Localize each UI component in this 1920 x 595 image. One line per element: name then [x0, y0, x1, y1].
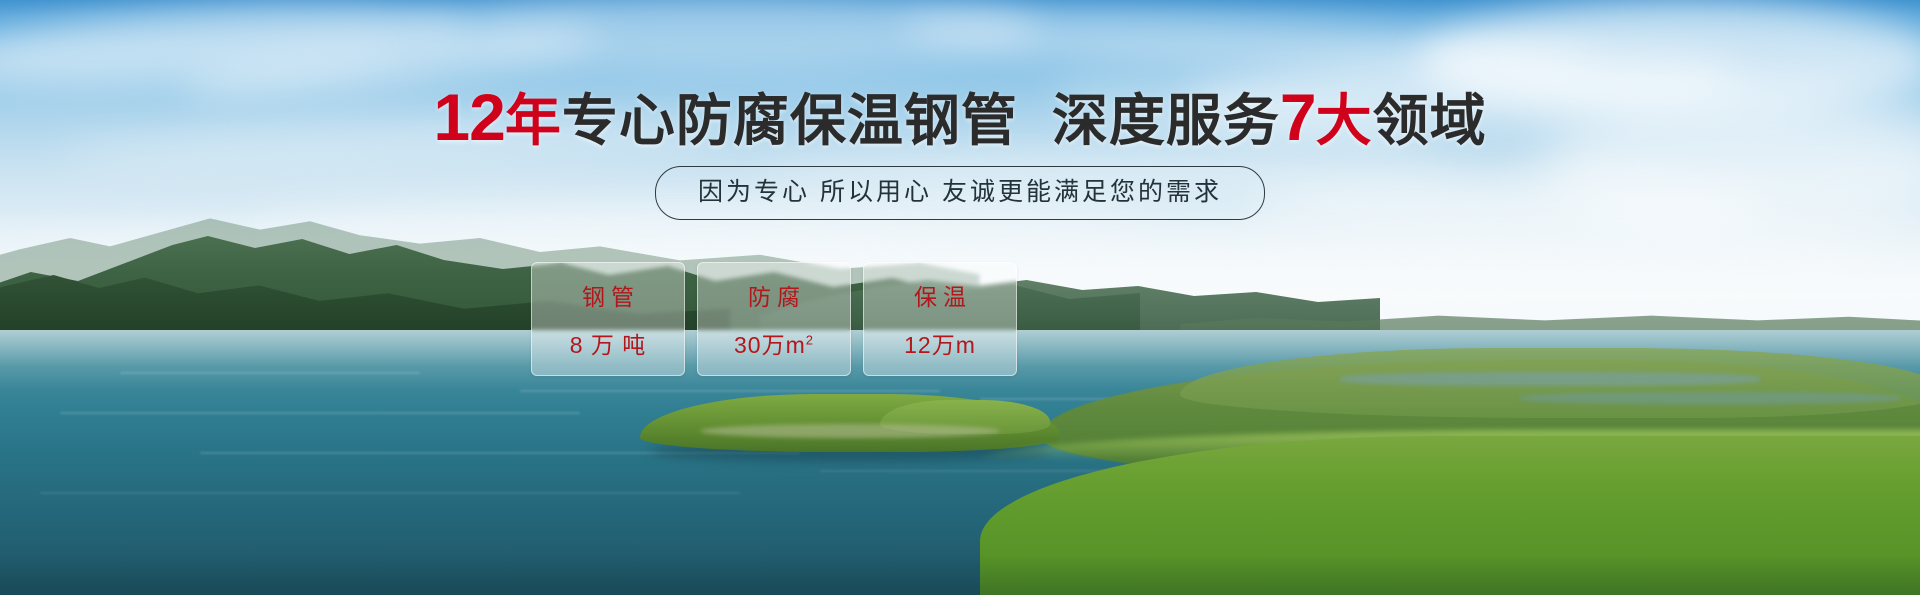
stat-card-value-main: 30万m [734, 332, 806, 358]
headline-fields-number: 7 [1280, 80, 1316, 154]
headline-main-text: 专心防腐保温钢管 [562, 89, 1018, 152]
stat-card-value: 12万m [904, 326, 976, 360]
stat-cards: 钢管 8 万 吨 防腐 30万m2 保温 12万m [531, 262, 1017, 376]
hero-banner: 12年专心防腐保温钢管深度服务7大领域 因为专心 所以用心 友诚更能满足您的需求… [0, 0, 1920, 595]
headline-fields-unit: 大 [1316, 89, 1373, 152]
stat-card-value-superscript: 2 [806, 332, 814, 347]
stat-card-value: 8 万 吨 [570, 326, 647, 360]
headline-years-number: 12 [433, 80, 504, 154]
stat-card-steel-pipe: 钢管 8 万 吨 [531, 262, 685, 376]
banner-subtitle-wrapper: 因为专心 所以用心 友诚更能满足您的需求 [0, 166, 1920, 220]
headline-service-text: 深度服务 [1052, 89, 1280, 152]
stat-card-insulation: 保温 12万m [863, 262, 1017, 376]
stat-card-anticorrosion: 防腐 30万m2 [697, 262, 851, 376]
headline-fields-text: 领域 [1373, 89, 1487, 152]
stat-card-label: 保温 [908, 278, 972, 312]
stat-card-label: 钢管 [576, 278, 640, 312]
stat-card-label: 防腐 [742, 278, 806, 312]
stat-card-value-main: 8 万 吨 [570, 332, 647, 358]
banner-headline: 12年专心防腐保温钢管深度服务7大领域 [0, 84, 1920, 150]
banner-content: 12年专心防腐保温钢管深度服务7大领域 因为专心 所以用心 友诚更能满足您的需求… [0, 0, 1920, 595]
stat-card-value: 30万m2 [734, 326, 814, 360]
headline-years-unit: 年 [505, 89, 562, 152]
banner-subtitle-pill: 因为专心 所以用心 友诚更能满足您的需求 [655, 166, 1265, 220]
stat-card-value-main: 12万m [904, 332, 976, 358]
